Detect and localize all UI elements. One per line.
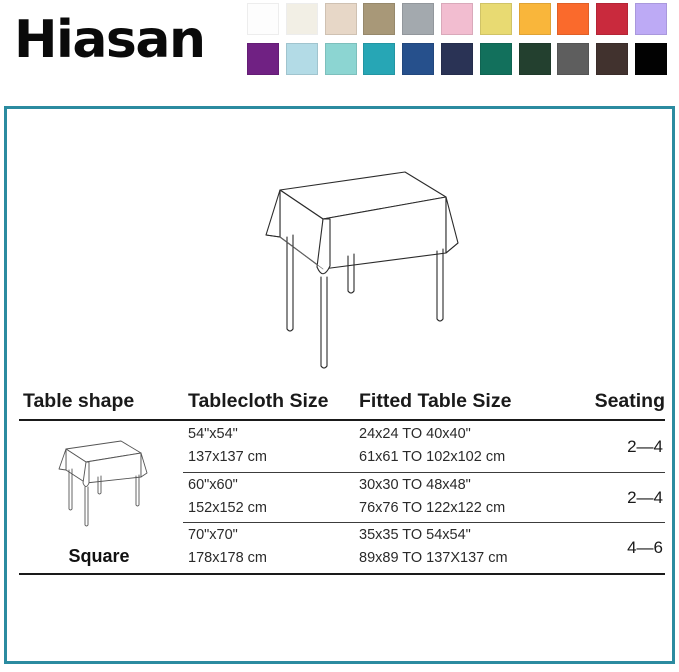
table-row: 60"x60" 152x152 cm 30x30 TO 48x48" 76x76… — [19, 472, 665, 523]
tablecloth-size-inches: 60"x60" — [188, 477, 238, 493]
swatch-navy[interactable] — [441, 43, 473, 75]
table-row: 70"x70" 178x178 cm 35x35 TO 54x54" 89x89… — [19, 522, 665, 573]
table-body: Square 54"x54" 137x137 cm 24x24 TO 40x40… — [19, 421, 665, 573]
swatch-blush-pink[interactable] — [441, 3, 473, 35]
tablecloth-size-cm: 137x137 cm — [188, 446, 267, 469]
swatch-lavender[interactable] — [635, 3, 667, 35]
cell-fitted-table-size: 30x30 TO 48x48" 76x76 TO 122x122 cm — [359, 474, 505, 520]
swatch-teal[interactable] — [363, 43, 395, 75]
brand-header: Hiasan — [0, 0, 679, 96]
fitted-size-inches: 35x35 TO 54x54" — [359, 527, 471, 543]
swatch-ivory[interactable] — [286, 3, 318, 35]
cell-fitted-table-size: 35x35 TO 54x54" 89x89 TO 137X137 cm — [359, 524, 508, 570]
swatch-hunter-green[interactable] — [519, 43, 551, 75]
swatch-charcoal-grey[interactable] — [557, 43, 589, 75]
swatch-white[interactable] — [247, 3, 279, 35]
swatch-aqua[interactable] — [325, 43, 357, 75]
swatch-dark-brown[interactable] — [596, 43, 628, 75]
color-swatch-grid — [247, 3, 673, 83]
swatch-silver-grey[interactable] — [402, 3, 434, 35]
fitted-size-cm: 61x61 TO 102x102 cm — [359, 446, 505, 469]
swatch-denim-blue[interactable] — [402, 43, 434, 75]
column-header-tablecloth-size: Tablecloth Size — [188, 390, 329, 413]
swatch-light-blue[interactable] — [286, 43, 318, 75]
swatch-row-2 — [247, 43, 673, 75]
size-guide-panel: Table shape Tablecloth Size Fitted Table… — [4, 106, 675, 664]
fitted-size-cm: 89x89 TO 137X137 cm — [359, 547, 508, 570]
swatch-orange[interactable] — [557, 3, 589, 35]
fitted-size-inches: 30x30 TO 48x48" — [359, 477, 471, 493]
swatch-taupe[interactable] — [363, 3, 395, 35]
tablecloth-size-cm: 178x178 cm — [188, 547, 267, 570]
cell-seating: 4—6 — [627, 536, 663, 559]
hero-table-illustration — [7, 155, 672, 377]
swatch-row-1 — [247, 3, 673, 35]
column-header-table-shape: Table shape — [23, 390, 134, 413]
column-header-fitted-table-size: Fitted Table Size — [359, 390, 511, 413]
swatch-golden-yellow[interactable] — [519, 3, 551, 35]
cell-tablecloth-size: 54"x54" 137x137 cm — [188, 423, 267, 469]
tablecloth-size-cm: 152x152 cm — [188, 497, 267, 520]
swatch-purple[interactable] — [247, 43, 279, 75]
cell-seating: 2—4 — [627, 486, 663, 509]
tablecloth-size-inches: 70"x70" — [188, 527, 238, 543]
swatch-beige[interactable] — [325, 3, 357, 35]
table-row: 54"x54" 137x137 cm 24x24 TO 40x40" 61x61… — [19, 421, 665, 472]
swatch-emerald-green[interactable] — [480, 43, 512, 75]
table-bottom-rule — [19, 573, 665, 575]
cell-tablecloth-size: 70"x70" 178x178 cm — [188, 524, 267, 570]
fitted-size-inches: 24x24 TO 40x40" — [359, 426, 471, 442]
fitted-size-cm: 76x76 TO 122x122 cm — [359, 497, 505, 520]
swatch-black[interactable] — [635, 43, 667, 75]
cell-fitted-table-size: 24x24 TO 40x40" 61x61 TO 102x102 cm — [359, 423, 505, 469]
brand-logo: Hiasan — [14, 8, 205, 72]
swatch-pale-yellow[interactable] — [480, 3, 512, 35]
column-header-seating: Seating — [595, 390, 665, 413]
cell-seating: 2—4 — [627, 435, 663, 458]
table-header-row: Table shape Tablecloth Size Fitted Table… — [19, 390, 665, 419]
cell-tablecloth-size: 60"x60" 152x152 cm — [188, 474, 267, 520]
size-spec-table: Table shape Tablecloth Size Fitted Table… — [19, 390, 665, 575]
swatch-red[interactable] — [596, 3, 628, 35]
tablecloth-size-inches: 54"x54" — [188, 426, 238, 442]
